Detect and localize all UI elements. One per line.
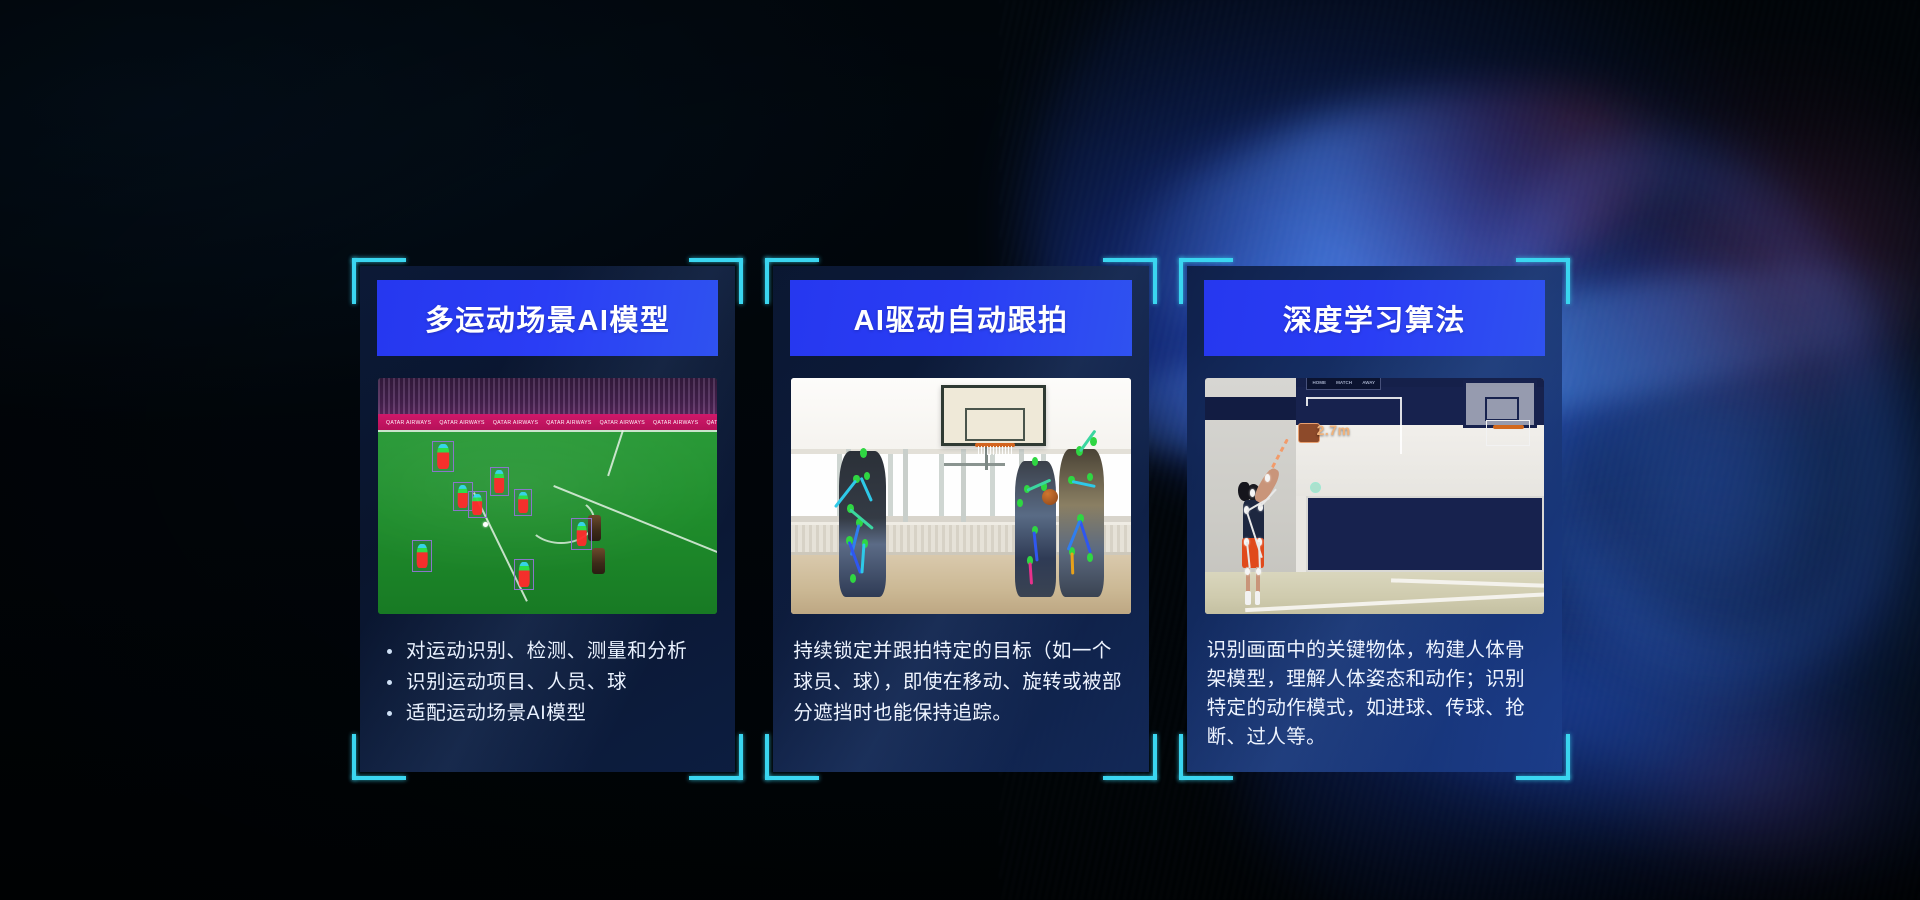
ad-text: QATAR AIRWAYS	[538, 420, 591, 426]
soccer-ball	[483, 522, 488, 527]
height-measurement-label: 2.7m	[1317, 422, 1351, 438]
detection-box	[514, 559, 534, 590]
scoreboard-cell: AWAY	[1362, 380, 1375, 385]
tracked-player	[839, 451, 887, 597]
detection-box	[432, 441, 454, 472]
card-title: AI驱动自动跟拍	[853, 297, 1068, 339]
ad-text: QATAR AIRWAYS	[645, 420, 698, 426]
soccer-detection-thumbnail[interactable]: QATAR AIRWAYS QATAR AIRWAYS QATAR AIRWAY…	[378, 378, 717, 614]
left-navy-band	[1205, 397, 1297, 421]
card-description: 识别画面中的关键物体，构建人体骨架模型，理解人体姿态和动作；识别特定的动作模式，…	[1207, 636, 1542, 752]
card-body: AI驱动自动跟拍	[773, 266, 1148, 772]
card-description: 持续锁定并跟拍特定的目标（如一个球员、球），即使在移动、旋转或被部分遮挡时也能保…	[793, 636, 1128, 729]
shot-analysis-thumbnail[interactable]: HOME MATCH AWAY 2.7m	[1205, 378, 1544, 614]
measurement-guide-tick	[1306, 397, 1308, 406]
feature-card-multi-sport-ai-model[interactable]: 多运动场景AI模型 QATAR AIRWAYS QATAR AIRWAYS QA…	[352, 258, 743, 780]
reference-marker	[1310, 482, 1321, 493]
detection-box	[468, 491, 487, 519]
feature-card-ai-auto-tracking[interactable]: AI驱动自动跟拍	[765, 258, 1156, 780]
ad-text: QATAR AIRWAYS	[378, 420, 431, 426]
untracked-player	[592, 548, 605, 574]
hoop-arm	[944, 463, 1005, 466]
feature-bullet-list: 对运动识别、检测、测量和分析 识别运动项目、人员、球 适配运动场景AI模型	[380, 636, 715, 729]
scoreboard: HOME MATCH AWAY	[1306, 378, 1381, 390]
backboard	[941, 385, 1046, 446]
card-title-banner: 多运动场景AI模型	[377, 280, 718, 356]
ad-text: QATAR AIRWAYS	[485, 420, 538, 426]
wall-padding	[1306, 496, 1544, 572]
hoop-net	[978, 446, 1012, 455]
list-item: 识别运动项目、人员、球	[380, 667, 715, 698]
tracked-shooter	[1235, 482, 1276, 605]
card-body: 多运动场景AI模型 QATAR AIRWAYS QATAR AIRWAYS QA…	[360, 266, 735, 772]
measurement-guide-horizontal	[1306, 397, 1401, 399]
measurement-guide-vertical	[1400, 397, 1402, 454]
card-title: 深度学习算法	[1283, 297, 1466, 339]
detection-box	[571, 518, 591, 549]
detection-box	[514, 489, 533, 517]
scoreboard-cell: HOME	[1313, 380, 1327, 385]
detection-box	[490, 467, 509, 496]
feature-card-group: 多运动场景AI模型 QATAR AIRWAYS QATAR AIRWAYS QA…	[352, 258, 1570, 780]
card-title: 多运动场景AI模型	[425, 297, 671, 339]
pitch-surface	[378, 430, 717, 614]
hoop-tracking-box	[1486, 420, 1530, 446]
feature-card-deep-learning-algorithm[interactable]: 深度学习算法 HOME	[1179, 258, 1570, 780]
card-body: 深度学习算法 HOME	[1187, 266, 1562, 772]
card-title-banner: 深度学习算法	[1204, 280, 1545, 356]
basketball-pose-skeleton-thumbnail[interactable]	[791, 378, 1130, 614]
list-item: 适配运动场景AI模型	[380, 698, 715, 729]
ad-text: QATAR AIRWAYS	[592, 420, 645, 426]
detection-box	[412, 540, 432, 571]
card-title-banner: AI驱动自动跟拍	[790, 280, 1131, 356]
tracked-player	[1015, 461, 1056, 598]
list-item: 对运动识别、检测、测量和分析	[380, 636, 715, 667]
scoreboard-cell: MATCH	[1336, 380, 1352, 385]
tracked-player	[1059, 449, 1103, 598]
advertising-banner: QATAR AIRWAYS QATAR AIRWAYS QATAR AIRWAY…	[378, 414, 717, 431]
ad-text: QATAR AIRWAYS	[431, 420, 484, 426]
ad-text: QATAR AIRWAYS	[698, 420, 717, 426]
